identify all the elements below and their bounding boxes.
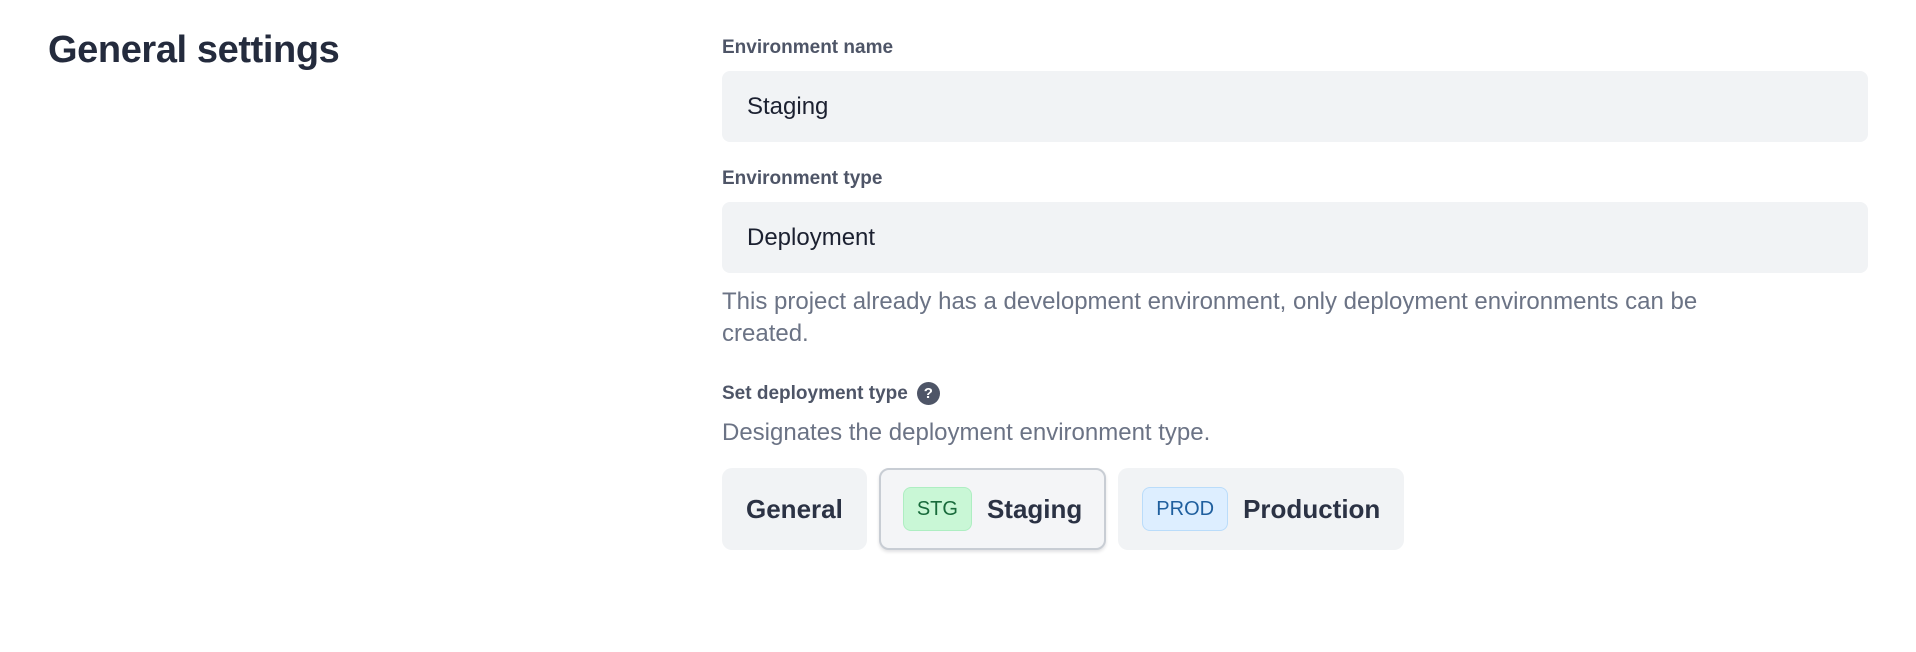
environment-type-field-block: Environment type This project already ha…	[722, 167, 1870, 351]
deployment-option-production-label: Production	[1243, 496, 1380, 522]
question-mark-icon[interactable]: ?	[917, 382, 940, 405]
general-settings-page: General settings Environment name Enviro…	[0, 0, 1916, 652]
deployment-option-production[interactable]: PROD Production	[1118, 468, 1404, 550]
environment-name-input[interactable]	[722, 71, 1868, 142]
environment-name-label-text: Environment name	[722, 36, 893, 60]
environment-type-label-text: Environment type	[722, 167, 882, 191]
deployment-option-staging-label: Staging	[987, 496, 1082, 522]
environment-type-helper-text: This project already has a development e…	[722, 286, 1722, 351]
environment-type-input[interactable]	[722, 202, 1868, 273]
deployment-option-general-label: General	[746, 496, 843, 522]
deployment-type-group: Set deployment type ? Designates the dep…	[722, 382, 1870, 550]
prod-badge: PROD	[1142, 487, 1228, 531]
deployment-type-description: Designates the deployment environment ty…	[722, 417, 1870, 450]
environment-name-field-block: Environment name	[722, 36, 1870, 142]
deployment-type-label-text: Set deployment type	[722, 382, 908, 406]
deployment-option-staging[interactable]: STG Staging	[879, 468, 1106, 550]
environment-name-label: Environment name	[722, 36, 1870, 60]
stg-badge: STG	[903, 487, 972, 531]
deployment-option-general[interactable]: General	[722, 468, 867, 550]
deployment-type-options: General STG Staging PROD Production	[722, 468, 1870, 550]
settings-form: Environment name Environment type This p…	[722, 36, 1870, 550]
page-title: General settings	[48, 28, 648, 74]
environment-type-label: Environment type	[722, 167, 1870, 191]
deployment-type-label: Set deployment type ?	[722, 382, 1870, 406]
